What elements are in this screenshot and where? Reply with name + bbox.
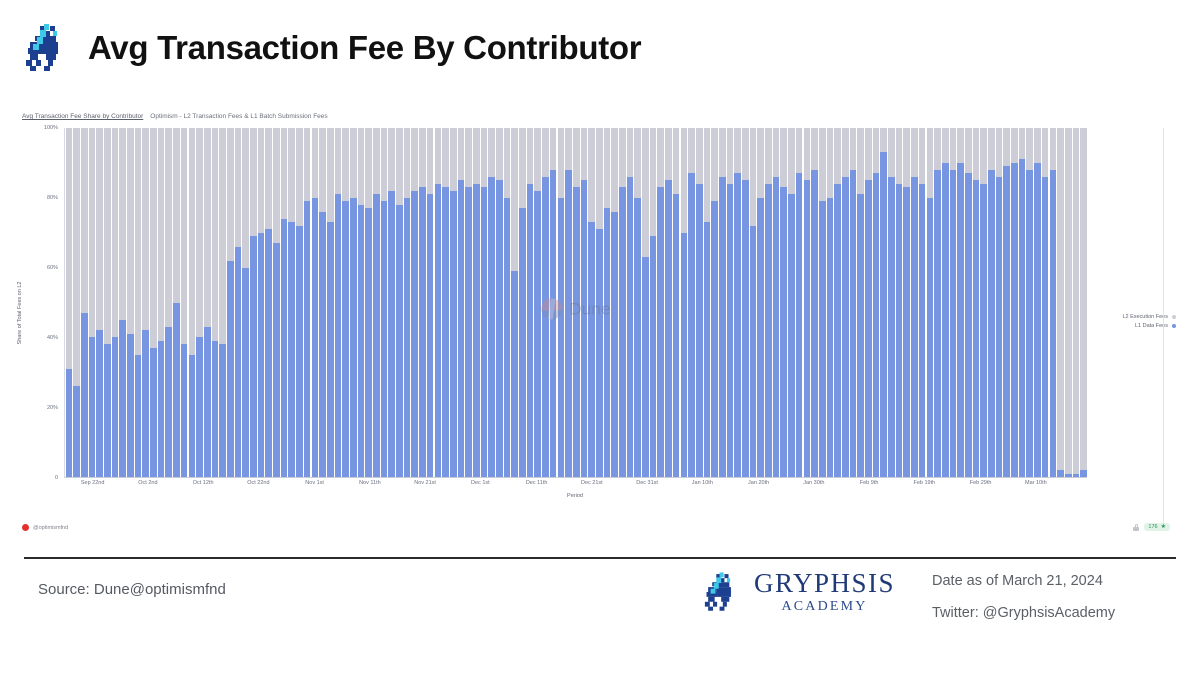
bar-column[interactable] [872, 128, 880, 477]
bar-column[interactable] [818, 128, 826, 477]
bar-segment-l2-execution-fees [927, 128, 934, 198]
bar-segment-l1-data-fees [304, 201, 311, 477]
bar-column[interactable] [303, 128, 311, 477]
bar-segment-l2-execution-fees [265, 128, 272, 229]
bar-column[interactable] [165, 128, 173, 477]
bar-segment-l2-execution-fees [73, 128, 80, 386]
bar-segment-l2-execution-fees [304, 128, 311, 201]
bar-segment-l1-data-fees [788, 194, 795, 477]
bar-segment-l2-execution-fees [757, 128, 764, 198]
bar-column[interactable] [511, 128, 519, 477]
x-axis-tick: Feb 19th [913, 480, 935, 486]
bar-column[interactable] [1011, 128, 1019, 477]
bar-segment-l2-execution-fees [435, 128, 442, 184]
bar-segment-l1-data-fees [504, 198, 511, 477]
bar-column[interactable] [964, 128, 972, 477]
bar-column[interactable] [219, 128, 227, 477]
bar-segment-l1-data-fees [665, 180, 672, 477]
bar-column[interactable] [288, 128, 296, 477]
x-axis-tick: Jan 10th [692, 480, 713, 486]
bar-segment-l2-execution-fees [342, 128, 349, 201]
bar-segment-l2-execution-fees [604, 128, 611, 208]
bar-segment-l1-data-fees [89, 337, 96, 477]
bar-segment-l1-data-fees [704, 222, 711, 477]
bar-segment-l1-data-fees [450, 191, 457, 477]
x-axis-tick: Jan 20th [748, 480, 769, 486]
bar-column[interactable] [373, 128, 381, 477]
bar-column[interactable] [503, 128, 511, 477]
bar-column[interactable] [649, 128, 657, 477]
bar-segment-l2-execution-fees [1019, 128, 1026, 159]
bar-column[interactable] [580, 128, 588, 477]
bar-column[interactable] [1026, 128, 1034, 477]
bar-segment-l2-execution-fees [850, 128, 857, 170]
bar-segment-l2-execution-fees [258, 128, 265, 233]
bar-segment-l2-execution-fees [1057, 128, 1064, 470]
bar-segment-l1-data-fees [142, 330, 149, 477]
bar-column[interactable] [726, 128, 734, 477]
bar-segment-l2-execution-fees [511, 128, 518, 271]
bar-column[interactable] [934, 128, 942, 477]
bar-segment-l1-data-fees [427, 194, 434, 477]
bar-column[interactable] [388, 128, 396, 477]
bar-segment-l2-execution-fees [842, 128, 849, 177]
bar-segment-l2-execution-fees [89, 128, 96, 337]
bar-column[interactable] [188, 128, 196, 477]
bar-segment-l2-execution-fees [442, 128, 449, 187]
bar-segment-l1-data-fees [342, 201, 349, 477]
bar-segment-l2-execution-fees [865, 128, 872, 180]
bar-column[interactable] [972, 128, 980, 477]
bar-column[interactable] [565, 128, 573, 477]
bar-segment-l1-data-fees [565, 170, 572, 477]
bar-column[interactable] [603, 128, 611, 477]
bar-column[interactable] [742, 128, 750, 477]
slide-root: Avg Transaction Fee By Contributor Avg T… [0, 0, 1200, 675]
bar-column[interactable] [442, 128, 450, 477]
bar-column[interactable] [995, 128, 1003, 477]
bar-segment-l2-execution-fees [319, 128, 326, 212]
bar-segment-l2-execution-fees [550, 128, 557, 170]
x-axis-tick: Oct 22nd [247, 480, 269, 486]
bar-column[interactable] [903, 128, 911, 477]
bar-segment-l1-data-fees [511, 271, 518, 477]
bar-column[interactable] [534, 128, 542, 477]
bar-segment-l2-execution-fees [81, 128, 88, 313]
bar-segment-l2-execution-fees [488, 128, 495, 177]
bar-segment-l2-execution-fees [327, 128, 334, 222]
bar-segment-l2-execution-fees [681, 128, 688, 233]
stars-badge[interactable]: 176 ★ [1144, 523, 1170, 531]
bar-column[interactable] [426, 128, 434, 477]
bar-column[interactable] [1018, 128, 1026, 477]
bar-segment-l2-execution-fees [381, 128, 388, 201]
bar-segment-l2-execution-fees [481, 128, 488, 187]
bar-column[interactable] [895, 128, 903, 477]
bar-segment-l1-data-fees [373, 194, 380, 477]
bar-segment-l1-data-fees [896, 184, 903, 477]
bar-column[interactable] [88, 128, 96, 477]
bar-column[interactable] [941, 128, 949, 477]
legend-item[interactable]: L1 Data Fees [1122, 323, 1176, 329]
bar-segment-l2-execution-fees [473, 128, 480, 184]
bar-column[interactable] [326, 128, 334, 477]
bar-column[interactable] [142, 128, 150, 477]
bar-segment-l1-data-fees [888, 177, 895, 477]
bar-column[interactable] [357, 128, 365, 477]
twitter-label: Twitter: @GryphsisAcademy [932, 605, 1115, 621]
bar-column[interactable] [96, 128, 104, 477]
bar-segment-l2-execution-fees [773, 128, 780, 177]
bar-segment-l1-data-fees [112, 337, 119, 477]
bar-segment-l1-data-fees [235, 247, 242, 477]
bar-segment-l2-execution-fees [657, 128, 664, 187]
bar-column[interactable] [1072, 128, 1080, 477]
bar-column[interactable] [595, 128, 603, 477]
bar-segment-l1-data-fees [558, 198, 565, 477]
bar-segment-l2-execution-fees [596, 128, 603, 229]
bar-segment-l1-data-fees [742, 180, 749, 477]
bar-column[interactable] [526, 128, 534, 477]
bar-segment-l1-data-fees [273, 243, 280, 477]
bar-segment-l2-execution-fees [227, 128, 234, 261]
bar-column[interactable] [765, 128, 773, 477]
x-axis-tick: Nov 1st [305, 480, 324, 486]
bar-column[interactable] [65, 128, 73, 477]
bar-segment-l1-data-fees [258, 233, 265, 477]
bar-column[interactable] [250, 128, 258, 477]
bar-segment-l2-execution-fees [834, 128, 841, 184]
bar-segment-l1-data-fees [765, 184, 772, 477]
bar-segment-l1-data-fees [750, 226, 757, 477]
bar-column[interactable] [1003, 128, 1011, 477]
bar-column[interactable] [311, 128, 319, 477]
bar-column[interactable] [519, 128, 527, 477]
bar-column[interactable] [226, 128, 234, 477]
y-axis-tick: 60% [47, 265, 58, 271]
bar-segment-l1-data-fees [957, 163, 964, 477]
bar-segment-l2-execution-fees [942, 128, 949, 163]
bar-segment-l2-execution-fees [288, 128, 295, 222]
bar-column[interactable] [834, 128, 842, 477]
bar-column[interactable] [234, 128, 242, 477]
bar-segment-l1-data-fees [404, 198, 411, 477]
bar-segment-l2-execution-fees [558, 128, 565, 198]
bar-column[interactable] [795, 128, 803, 477]
bar-column[interactable] [918, 128, 926, 477]
bar-column[interactable] [988, 128, 996, 477]
bar-segment-l2-execution-fees [996, 128, 1003, 177]
bar-segment-l1-data-fees [158, 341, 165, 477]
bar-segment-l1-data-fees [488, 177, 495, 477]
bar-segment-l1-data-fees [250, 236, 257, 477]
bar-segment-l2-execution-fees [273, 128, 280, 243]
y-axis-tick: 20% [47, 405, 58, 411]
bar-column[interactable] [680, 128, 688, 477]
chart-author[interactable]: @optimismfnd [22, 524, 68, 531]
bar-column[interactable] [757, 128, 765, 477]
bar-column[interactable] [772, 128, 780, 477]
bar-segment-l2-execution-fees [519, 128, 526, 208]
bar-segment-l2-execution-fees [96, 128, 103, 330]
bar-column[interactable] [1041, 128, 1049, 477]
bar-segment-l1-data-fees [619, 187, 626, 477]
bar-segment-l2-execution-fees [619, 128, 626, 187]
gryphsis-griffin-icon [20, 20, 74, 76]
bar-column[interactable] [411, 128, 419, 477]
bar-column[interactable] [703, 128, 711, 477]
plot-area-wrapper: Share of Total Fees on L2 020%40%60%80%1… [14, 128, 1186, 498]
bar-column[interactable] [434, 128, 442, 477]
bar-segment-l1-data-fees [804, 180, 811, 477]
bar-column[interactable] [1057, 128, 1065, 477]
bar-segment-l2-execution-fees [827, 128, 834, 198]
bar-column[interactable] [1034, 128, 1042, 477]
bar-column[interactable] [296, 128, 304, 477]
query-subtitle: Optimism - L2 Transaction Fees & L1 Batc… [150, 113, 327, 120]
bar-segment-l1-data-fees [388, 191, 395, 477]
bar-column[interactable] [1064, 128, 1072, 477]
bar-column[interactable] [588, 128, 596, 477]
plot-area: Dune [64, 128, 1087, 478]
bar-column[interactable] [611, 128, 619, 477]
bar-column[interactable] [472, 128, 480, 477]
legend-swatch [1172, 315, 1176, 319]
bar-column[interactable] [957, 128, 965, 477]
bar-column[interactable] [865, 128, 873, 477]
bar-column[interactable] [888, 128, 896, 477]
bar-column[interactable] [80, 128, 88, 477]
bar-column[interactable] [926, 128, 934, 477]
bar-column[interactable] [572, 128, 580, 477]
bar-column[interactable] [542, 128, 550, 477]
slide-header: Avg Transaction Fee By Contributor [0, 0, 1200, 96]
bar-segment-l2-execution-fees [780, 128, 787, 187]
bar-segment-l2-execution-fees [150, 128, 157, 348]
bar-segment-l1-data-fees [173, 303, 180, 478]
bar-column[interactable] [841, 128, 849, 477]
bar-segment-l1-data-fees [604, 208, 611, 477]
bar-segment-l2-execution-fees [119, 128, 126, 320]
bar-column[interactable] [849, 128, 857, 477]
bar-segment-l2-execution-fees [350, 128, 357, 198]
bar-segment-l1-data-fees [842, 177, 849, 477]
bar-segment-l1-data-fees [657, 187, 664, 477]
bar-segment-l1-data-fees [719, 177, 726, 477]
bar-column[interactable] [734, 128, 742, 477]
bar-column[interactable] [1049, 128, 1057, 477]
bar-segment-l1-data-fees [880, 152, 887, 477]
star-icon: ★ [1161, 524, 1166, 530]
bar-column[interactable] [134, 128, 142, 477]
bar-segment-l1-data-fees [865, 180, 872, 477]
bar-segment-l1-data-fees [1057, 470, 1064, 477]
bar-column[interactable] [465, 128, 473, 477]
bar-column[interactable] [826, 128, 834, 477]
bar-segment-l1-data-fees [850, 170, 857, 477]
bar-column[interactable] [173, 128, 181, 477]
bar-segment-l2-execution-fees [388, 128, 395, 191]
bar-column[interactable] [780, 128, 788, 477]
bar-column[interactable] [657, 128, 665, 477]
bar-column[interactable] [880, 128, 888, 477]
bar-column[interactable] [203, 128, 211, 477]
bar-column[interactable] [557, 128, 565, 477]
query-title-link[interactable]: Avg Transaction Fee Share by Contributor [22, 113, 143, 120]
bar-segment-l2-execution-fees [458, 128, 465, 180]
bar-column[interactable] [419, 128, 427, 477]
bar-segment-l1-data-fees [934, 170, 941, 477]
bar-column[interactable] [626, 128, 634, 477]
bar-segment-l1-data-fees [673, 194, 680, 477]
bar-column[interactable] [634, 128, 642, 477]
bar-column[interactable] [642, 128, 650, 477]
bar-segment-l1-data-fees [727, 184, 734, 477]
bar-segment-l2-execution-fees [880, 128, 887, 152]
bar-segment-l2-execution-fees [980, 128, 987, 184]
bar-segment-l2-execution-fees [888, 128, 895, 177]
author-handle[interactable]: @optimismfnd [33, 525, 68, 531]
bar-column[interactable] [711, 128, 719, 477]
bar-column[interactable] [480, 128, 488, 477]
bar-column[interactable] [342, 128, 350, 477]
bar-column[interactable] [380, 128, 388, 477]
bar-segment-l2-execution-fees [903, 128, 910, 187]
bar-segment-l1-data-fees [573, 187, 580, 477]
bar-column[interactable] [334, 128, 342, 477]
bar-column[interactable] [803, 128, 811, 477]
bar-segment-l2-execution-fees [627, 128, 634, 177]
bar-segment-l1-data-fees [780, 187, 787, 477]
bar-column[interactable] [127, 128, 135, 477]
bar-column[interactable] [157, 128, 165, 477]
bar-segment-l1-data-fees [611, 212, 618, 477]
legend-item[interactable]: L2 Execution Fees [1122, 314, 1176, 320]
bar-segment-l1-data-fees [465, 187, 472, 477]
bar-segment-l2-execution-fees [534, 128, 541, 191]
bar-segment-l1-data-fees [827, 198, 834, 477]
bar-segment-l1-data-fees [104, 344, 111, 477]
bar-segment-l2-execution-fees [750, 128, 757, 226]
bar-segment-l2-execution-fees [857, 128, 864, 194]
bar-segment-l1-data-fees [242, 268, 249, 477]
bar-column[interactable] [196, 128, 204, 477]
bar-segment-l1-data-fees [919, 184, 926, 477]
bar-segment-l2-execution-fees [950, 128, 957, 170]
bar-column[interactable] [119, 128, 127, 477]
bar-column[interactable] [319, 128, 327, 477]
bar-column[interactable] [403, 128, 411, 477]
bar-column[interactable] [665, 128, 673, 477]
legend-swatch [1172, 324, 1176, 328]
bar-column[interactable] [211, 128, 219, 477]
bar-column[interactable] [111, 128, 119, 477]
bar-column[interactable] [688, 128, 696, 477]
bar-column[interactable] [457, 128, 465, 477]
bar-column[interactable] [718, 128, 726, 477]
bar-column[interactable] [396, 128, 404, 477]
x-axis-title: Period [567, 493, 583, 499]
bar-column[interactable] [150, 128, 158, 477]
bar-column[interactable] [672, 128, 680, 477]
bar-column[interactable] [788, 128, 796, 477]
bar-segment-l1-data-fees [903, 187, 910, 477]
bar-column[interactable] [365, 128, 373, 477]
bar-segment-l1-data-fees [442, 187, 449, 477]
bar-column[interactable] [257, 128, 265, 477]
bar-segment-l1-data-fees [650, 236, 657, 477]
bar-segment-l1-data-fees [458, 180, 465, 477]
bar-segment-l2-execution-fees [242, 128, 249, 268]
bar-segment-l2-execution-fees [573, 128, 580, 187]
x-axis-tick: Nov 21st [414, 480, 436, 486]
bar-segment-l2-execution-fees [396, 128, 403, 205]
bar-segment-l2-execution-fees [911, 128, 918, 177]
bar-column[interactable] [280, 128, 288, 477]
bar-segment-l2-execution-fees [358, 128, 365, 205]
bar-segment-l2-execution-fees [365, 128, 372, 208]
bar-segment-l1-data-fees [419, 187, 426, 477]
bar-column[interactable] [980, 128, 988, 477]
bar-column[interactable] [180, 128, 188, 477]
bar-column[interactable] [103, 128, 111, 477]
bar-segment-l1-data-fees [1042, 177, 1049, 477]
lock-icon [1133, 524, 1139, 531]
bar-segment-l2-execution-fees [127, 128, 134, 334]
bar-segment-l1-data-fees [319, 212, 326, 477]
bar-segment-l1-data-fees [527, 184, 534, 477]
bar-segment-l2-execution-fees [135, 128, 142, 355]
bar-segment-l1-data-fees [1080, 470, 1087, 477]
bar-column[interactable] [811, 128, 819, 477]
x-axis-tick: Jan 30th [803, 480, 824, 486]
bar-column[interactable] [857, 128, 865, 477]
bar-segment-l2-execution-fees [250, 128, 257, 236]
bar-segment-l2-execution-fees [765, 128, 772, 184]
bar-column[interactable] [488, 128, 496, 477]
bar-column[interactable] [749, 128, 757, 477]
bar-column[interactable] [73, 128, 81, 477]
page-title: Avg Transaction Fee By Contributor [88, 29, 641, 67]
bar-segment-l2-execution-fees [189, 128, 196, 355]
bar-column[interactable] [449, 128, 457, 477]
bar-segment-l1-data-fees [711, 201, 718, 477]
bar-column[interactable] [695, 128, 703, 477]
bar-segment-l1-data-fees [819, 201, 826, 477]
y-axis-title: Share of Total Fees on L2 [17, 282, 23, 345]
bar-segment-l1-data-fees [1050, 170, 1057, 477]
bar-column[interactable] [619, 128, 627, 477]
bar-column[interactable] [949, 128, 957, 477]
bar-segment-l1-data-fees [965, 173, 972, 477]
bar-column[interactable] [349, 128, 357, 477]
bar-segment-l2-execution-fees [704, 128, 711, 222]
bar-column[interactable] [265, 128, 273, 477]
bar-segment-l2-execution-fees [465, 128, 472, 187]
bar-segment-l1-data-fees [150, 348, 157, 477]
bar-column[interactable] [496, 128, 504, 477]
bar-segment-l2-execution-fees [688, 128, 695, 173]
bar-segment-l1-data-fees [550, 170, 557, 477]
bar-column[interactable] [911, 128, 919, 477]
bar-column[interactable] [549, 128, 557, 477]
bar-segment-l2-execution-fees [1011, 128, 1018, 163]
bar-segment-l1-data-fees [734, 173, 741, 477]
bar-segment-l1-data-fees [1011, 163, 1018, 477]
bar-column[interactable] [273, 128, 281, 477]
bar-column[interactable] [1080, 128, 1088, 477]
bar-column[interactable] [242, 128, 250, 477]
